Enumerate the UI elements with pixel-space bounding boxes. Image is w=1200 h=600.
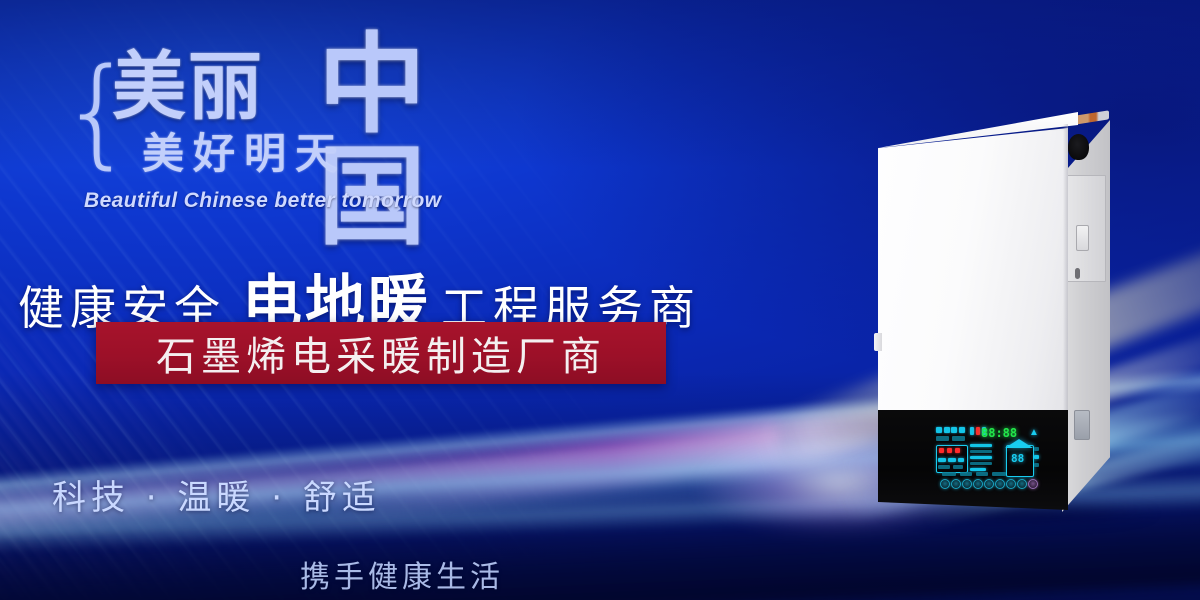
touch-button-function[interactable]: [1017, 479, 1027, 489]
lcd-mid-bar-1: [970, 444, 992, 447]
lcd-bar-2: [952, 436, 965, 441]
touch-button-set[interactable]: [984, 479, 994, 489]
lcd-label-2: [944, 427, 950, 433]
product-lcd-display: 88:88 ▲ 88: [934, 425, 1042, 497]
lcd-touch-button-row: [940, 479, 1038, 489]
lcd-mid-bar-3: [970, 456, 992, 459]
product-front-cover: [878, 128, 1068, 416]
logo-line-1: 美丽: [112, 46, 264, 128]
lcd-bottom-label-3: [976, 472, 988, 476]
lcd-mid-bar-2: [970, 450, 992, 453]
promotional-banner: { 美丽 中国 美好明天 Beautiful Chinese better to…: [0, 0, 1200, 600]
lcd-small-seg-1: [970, 427, 974, 435]
product-side-switch: [1076, 225, 1089, 251]
lcd-right-bar-3: [1034, 463, 1039, 467]
product-image-electric-boiler: 88:88 ▲ 88: [860, 110, 1170, 520]
touch-button-up[interactable]: [962, 479, 972, 489]
lcd-room-temperature: 88: [1011, 453, 1024, 464]
lcd-red-led-2: [947, 448, 952, 453]
lcd-red-led-1: [939, 448, 944, 453]
lcd-bottom-label-1: [942, 472, 956, 476]
lcd-bottom-label-4: [992, 472, 1006, 476]
touch-button-power[interactable]: [940, 479, 950, 489]
lcd-red-led-3: [955, 448, 960, 453]
lcd-right-bar-2: [1034, 455, 1039, 459]
lcd-mode-seg-4: [938, 465, 950, 469]
lcd-label-1: [936, 427, 942, 433]
lcd-right-bar-1: [1034, 447, 1039, 451]
touch-button-lock[interactable]: [1028, 479, 1038, 489]
product-left-clip: [874, 333, 882, 351]
touch-button-mode[interactable]: [951, 479, 961, 489]
logo-line-2: 美好明天: [142, 130, 346, 178]
product-edge-highlight: [1063, 124, 1068, 416]
tagline-primary: 科技 · 温暖 · 舒适: [52, 470, 381, 519]
lcd-mode-seg-2: [948, 458, 956, 462]
brand-logo: { 美丽 中国 美好明天 Beautiful Chinese better to…: [60, 46, 480, 226]
lcd-mid-bar-5: [970, 468, 986, 471]
lcd-mode-seg-3: [958, 458, 964, 462]
touch-button-clock[interactable]: [1006, 479, 1016, 489]
touch-button-timer[interactable]: [995, 479, 1005, 489]
product-side-indicator: [1075, 268, 1080, 279]
product-side-vent-hole: [1068, 134, 1089, 160]
lcd-mode-seg-1: [938, 458, 946, 462]
tagline-secondary: 携手健康生活: [300, 552, 504, 596]
lcd-bar-1: [936, 436, 949, 441]
red-highlight-banner: 石墨烯电采暖制造厂商: [96, 322, 666, 384]
lcd-main-digits: 88:88: [981, 427, 1017, 439]
product-top-connectors: [1075, 110, 1109, 124]
logo-english-text: Beautiful Chinese better tomorrow: [84, 189, 441, 213]
lcd-mode-seg-5: [953, 465, 963, 469]
lcd-label-4: [959, 427, 965, 433]
lcd-label-3: [951, 427, 957, 433]
product-side-port: [1074, 410, 1090, 440]
lcd-small-seg-red: [976, 427, 980, 435]
red-banner-text: 石墨烯电采暖制造厂商: [156, 324, 606, 382]
lcd-mid-bar-4: [970, 462, 992, 465]
touch-button-down[interactable]: [973, 479, 983, 489]
wifi-icon: ▲: [1029, 428, 1039, 438]
lcd-bottom-label-2: [960, 472, 972, 476]
